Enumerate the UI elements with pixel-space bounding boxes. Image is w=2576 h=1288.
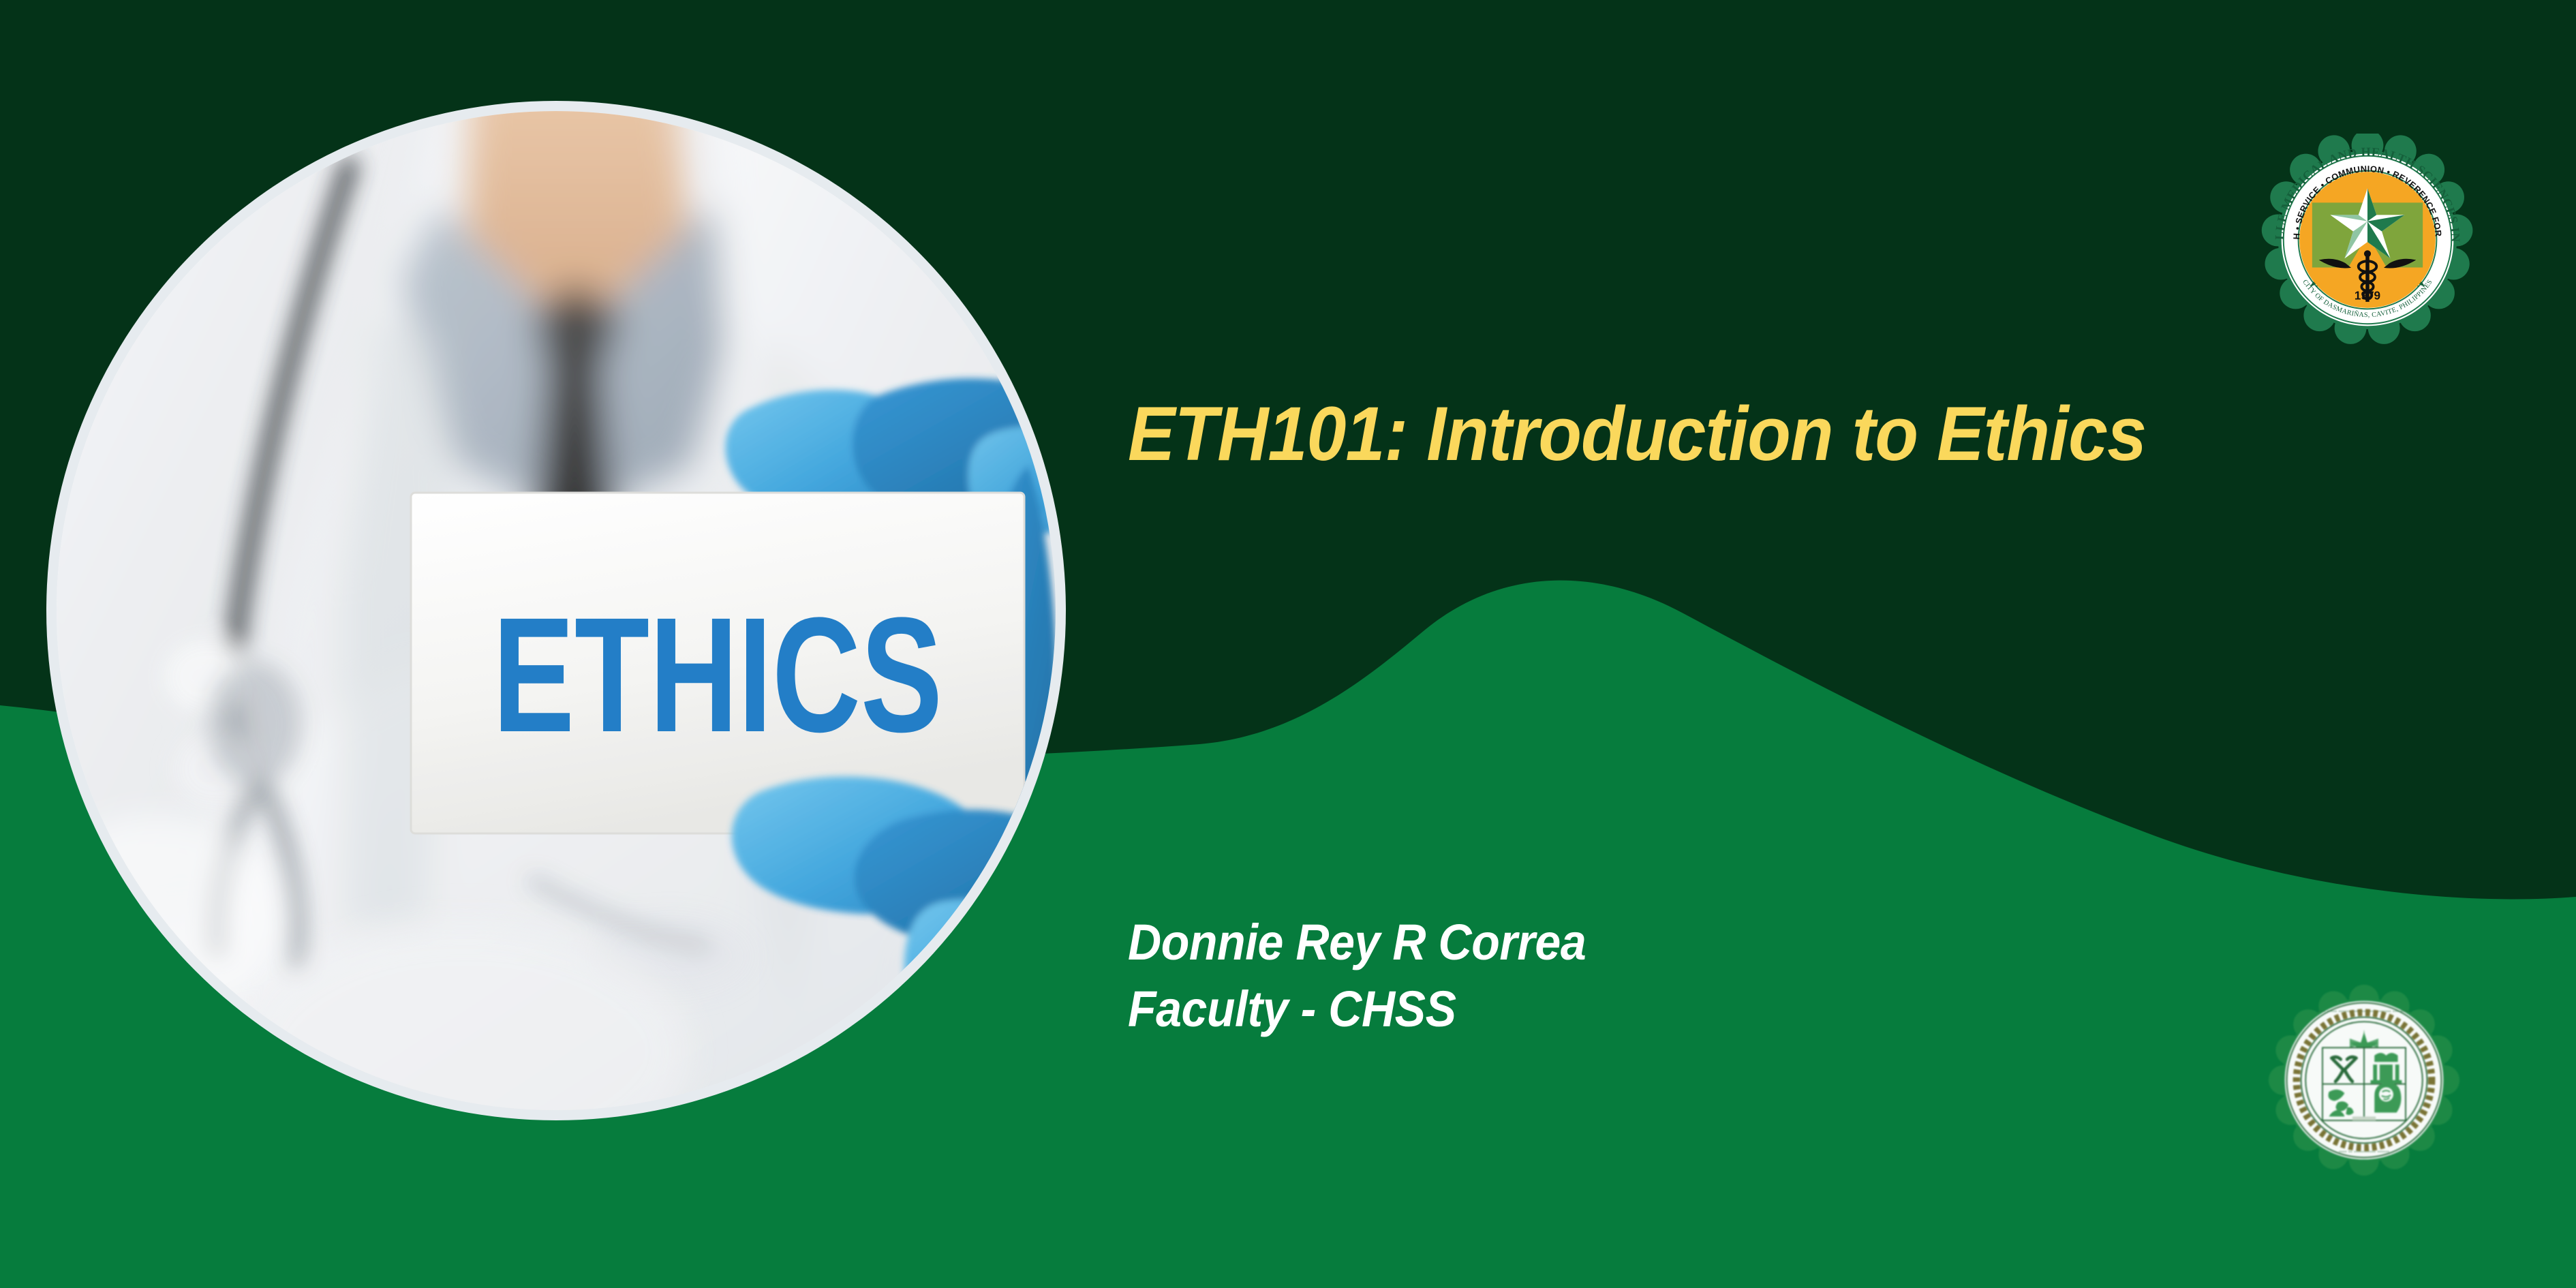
seal-year: 1979 (2355, 288, 2380, 302)
college-seal-svg: ▪▪▪▪ ▪▪▪▪▪ ▪▪▪▪▪▪▪ ▪▪▪ ▪▪▪▪▪▪ ▪▪▪▪▪▪▪▪ ▪… (2267, 981, 2462, 1179)
svg-text:▪▪▪▪ ▪▪ ▪▪▪▪▪▪▪▪▪▪▪ ▪▪▪▪▪▪: ▪▪▪▪ ▪▪ ▪▪▪▪▪▪▪▪▪▪▪ ▪▪▪▪▪▪ (2339, 1149, 2389, 1154)
presenter-block: Donnie Rey R Correa Faculty - CHSS (1128, 909, 1586, 1042)
hero-photo-circle: ETHICS (46, 101, 1066, 1120)
hero-photo: ETHICS (57, 111, 1056, 1110)
dlshsi-seal-svg: DE LA SALLE MEDICAL AND HEALTH SCIENCES … (2261, 134, 2474, 346)
shield-emblem (2322, 1047, 2406, 1120)
svg-text:▪▪▪▪ ▪▪▪▪▪ ▪▪▪▪▪▪▪ ▪▪▪ ▪▪▪▪▪▪: ▪▪▪▪ ▪▪▪▪▪ ▪▪▪▪▪▪▪ ▪▪▪ ▪▪▪▪▪▪ ▪▪▪▪▪▪▪▪ ▪… (2318, 1009, 2411, 1014)
presenter-name: Donnie Rey R Correa (1128, 909, 1586, 976)
title-slide: ETHICS ETH101: Introduction to Ethics Do… (0, 0, 2576, 1288)
college-seal-logo: ▪▪▪▪ ▪▪▪▪▪ ▪▪▪▪▪▪▪ ▪▪▪ ▪▪▪▪▪▪ ▪▪▪▪▪▪▪▪ ▪… (2267, 981, 2462, 1179)
doctor-holding-ethics-card-photo: ETHICS (57, 111, 1056, 1110)
page-title: ETH101: Introduction to Ethics (1128, 394, 2146, 475)
dlshsi-seal-logo: DE LA SALLE MEDICAL AND HEALTH SCIENCES … (2261, 134, 2474, 346)
presenter-role: Faculty - CHSS (1128, 976, 1586, 1043)
